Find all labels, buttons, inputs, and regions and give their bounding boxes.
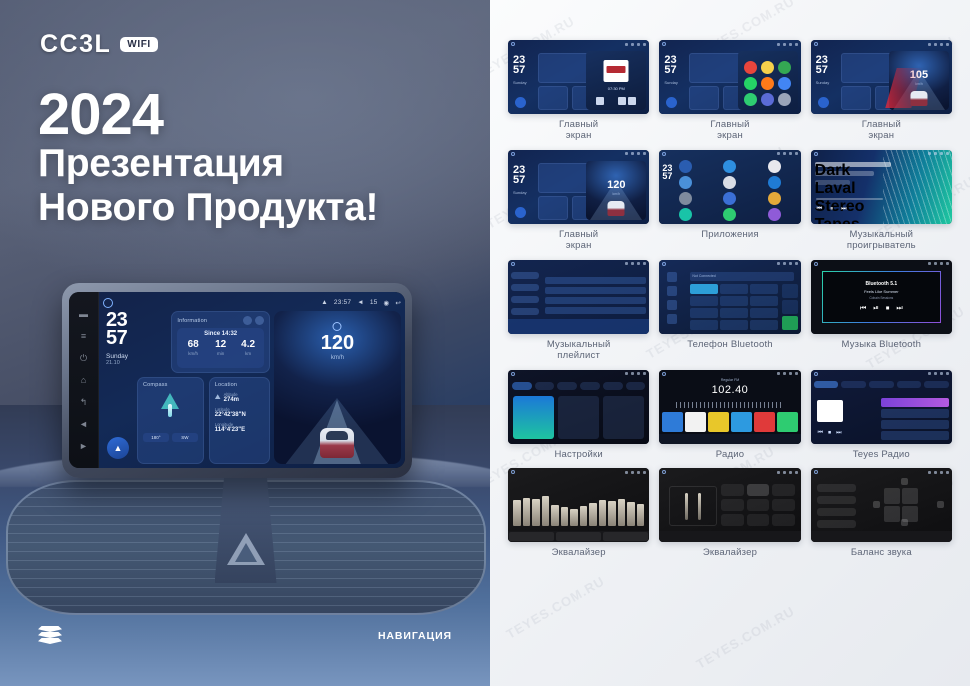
gear-icon[interactable]: ◉	[383, 299, 389, 307]
thumbnail-music-player[interactable]: Dark Laval Stereo Tapes ⏮⏸⏭	[811, 150, 952, 224]
screenshot-gallery: TEYES.COM.RU TEYES.COM.RU TEYES.COM.RU T…	[490, 0, 970, 686]
product-logo: CC3L WIFI	[40, 32, 158, 57]
logo-wifi-badge: WIFI	[120, 37, 158, 52]
stop-icon: ⏹	[886, 305, 890, 313]
thumbnail-apps[interactable]: 2357	[659, 150, 800, 224]
gallery-item[interactable]: Not Connected Телефон Bluetooth	[659, 260, 800, 362]
hero-headline-line1: Презентация	[38, 142, 458, 186]
gallery-item[interactable]: 2357 Sunday Главный экран	[659, 40, 800, 142]
gallery-item[interactable]: ⏮⏹⏭ Teyes Радио	[811, 370, 952, 461]
status-time: 23:57	[334, 299, 351, 306]
gallery-item[interactable]: 2357 Sunday 105 km/h	[811, 40, 952, 142]
power-key-icon[interactable]: ⏻	[78, 353, 89, 364]
location-card[interactable]: Location ⛰ Altitude 274m	[209, 377, 270, 464]
thumbnail-home-music[interactable]: 2357 Sunday 07:30 PM	[508, 40, 649, 114]
longitude-row: Longitude 114°4'23"E	[215, 422, 264, 433]
thumbnail-bluetooth-phone[interactable]: Not Connected	[659, 260, 800, 334]
compass-needle	[168, 404, 172, 417]
navigation-arrow-icon[interactable]: ▲	[107, 437, 129, 459]
watermark: TEYES.COM.RU	[504, 573, 608, 641]
trip-stat-speed: 68 km/h	[179, 340, 206, 356]
volume-down-key-icon[interactable]: ◄	[78, 419, 89, 430]
thumbnail-teyes-radio[interactable]: ⏮⏹⏭	[811, 370, 952, 444]
navigation-arrow-icon	[515, 97, 526, 108]
app-shortcuts-widget	[738, 51, 798, 110]
gallery-item[interactable]: 2357 Приложения	[659, 150, 800, 252]
trip-stat-time: 12 min	[207, 340, 234, 356]
drive-speed-unit: km/h	[274, 355, 401, 361]
speedometer-icon	[333, 322, 342, 331]
gallery-item-caption: Главный экран	[862, 120, 901, 142]
hero-headline: Презентация Нового Продукта!	[38, 142, 458, 231]
balance-up-arrow	[901, 478, 908, 485]
altitude-row: ⛰ Altitude 274m	[215, 392, 264, 403]
thumb-clock-m: 57	[513, 64, 525, 76]
hero-headline-line2: Нового Продукта!	[38, 186, 458, 230]
play-pause-icon: ⏯	[873, 305, 879, 313]
expand-icon[interactable]	[255, 316, 264, 325]
gallery-item[interactable]: Эквалайзер	[508, 468, 649, 559]
back-icon[interactable]: ↩	[395, 299, 401, 307]
drive-speed-value: 120	[274, 333, 401, 353]
side-key-rail[interactable]: ▬ ≡ ⏻ ⌂ ↰ ◄ ►	[69, 292, 99, 468]
layers-icon	[38, 626, 62, 644]
drive-panel[interactable]: 120 km/h	[274, 311, 401, 464]
clock-widget: 23 57 Sunday 21.10	[103, 311, 166, 373]
home-icon[interactable]	[103, 298, 113, 308]
information-card[interactable]: Information Since 14:32	[171, 311, 269, 373]
gallery-item-caption: Настройки	[554, 450, 602, 461]
gallery-row: 2357 Sunday 07:30 PM Главный экран	[508, 40, 952, 142]
compass-direction: SW	[172, 433, 198, 442]
gallery-grid: 2357 Sunday 07:30 PM Главный экран	[508, 40, 952, 559]
stop-icon: ⏹	[828, 430, 831, 437]
mountain-icon: ⛰	[215, 394, 221, 402]
pause-icon: ⏸	[830, 206, 833, 213]
mute-key-icon[interactable]: ▬	[78, 309, 89, 320]
navigation-arrow-icon	[818, 97, 829, 108]
gallery-item[interactable]: Настройки	[508, 370, 649, 461]
thumb-radio-band: Regular FM	[659, 378, 800, 382]
navigation-arrow-icon	[515, 207, 526, 218]
thumbnail-radio[interactable]: Regular FM 102.40	[659, 370, 800, 444]
volume-up-key-icon[interactable]: ►	[78, 441, 89, 452]
wifi-icon: ▲	[321, 299, 328, 306]
gallery-item[interactable]: Dark Laval Stereo Tapes ⏮⏸⏭ Музыкальный …	[811, 150, 952, 252]
thumbnail-home-drive[interactable]: 2357 Sunday 120 km/h	[508, 150, 649, 224]
thumbnail-home-apps[interactable]: 2357 Sunday	[659, 40, 800, 114]
thumb-phone-status: Not Connected	[690, 272, 793, 281]
gallery-row: Эквалайзер Эквалайзер	[508, 468, 952, 559]
gallery-item-caption: Эквалайзер	[552, 548, 606, 559]
screen-left-column: 23 57 Sunday 21.10 Information	[103, 311, 270, 464]
thumbnail-bluetooth-music[interactable]: Bluetooth 5.1 Feels Like Summer Cobain S…	[811, 260, 952, 334]
thumb-track-time: 07:30 PM	[586, 86, 646, 91]
footer-label: НАВИГАЦИЯ	[378, 630, 452, 642]
hero-panel: CC3L WIFI 2024 Презентация Нового Продук…	[0, 0, 490, 686]
gallery-item[interactable]: 2357 Sunday 07:30 PM Главный экран	[508, 40, 649, 142]
gallery-item-caption: Приложения	[701, 230, 759, 241]
balance-right-arrow	[937, 501, 944, 508]
gallery-row: Музыкальный плейлист Not Connected	[508, 260, 952, 362]
gallery-item-caption: Главный экран	[710, 120, 749, 142]
thumb-radio-frequency: 102.40	[659, 384, 800, 396]
next-icon: ⏭	[836, 430, 841, 437]
compass-heading: 180°	[143, 433, 169, 442]
thumb-bt-track: Feels Like Summer	[864, 289, 898, 294]
trip-stat-distance: 4.2 km	[234, 340, 261, 356]
hazard-button-housing	[215, 473, 277, 583]
gallery-row: 2357 Sunday 120 km/h Главн	[508, 150, 952, 252]
screen-status-bar: ▲ 23:57 ◄ 15 ◉ ↩	[103, 296, 401, 309]
latitude-row: Latitude 22°42'38"N	[215, 407, 264, 418]
altitude-value: 274m	[224, 397, 239, 403]
head-unit-screen[interactable]: ▲ 23:57 ◄ 15 ◉ ↩ 23 57	[99, 292, 405, 468]
gallery-item-caption: Teyes Радио	[853, 450, 910, 461]
prev-icon: ⏮	[860, 305, 866, 313]
thumbnail-home-drive-red[interactable]: 2357 Sunday 105 km/h	[811, 40, 952, 114]
thumb-bt-title: Bluetooth 5.1	[865, 281, 897, 287]
gallery-item[interactable]: Музыкальный плейлист	[508, 260, 649, 362]
clock-day: Sunday	[106, 353, 166, 360]
thumb-speed-value: 120	[586, 179, 646, 191]
refresh-icon[interactable]	[243, 316, 252, 325]
screen-content: 23 57 Sunday 21.10 Information	[103, 309, 401, 464]
trip-since-label: Since 14:32	[179, 331, 261, 337]
gallery-item[interactable]: Regular FM 102.40 Радио	[659, 370, 800, 461]
gallery-item-caption: Музыкальный плейлист	[547, 340, 611, 362]
prev-icon: ⏮	[818, 430, 823, 437]
navigation-arrow-icon	[666, 97, 677, 108]
gallery-item-caption: Музыка Bluetooth	[842, 340, 922, 351]
mode-key-icon[interactable]: ≡	[78, 331, 89, 342]
clock-date: 21.10	[106, 360, 166, 366]
back-key-icon[interactable]: ↰	[78, 397, 89, 408]
thumbnail-sound-balance[interactable]	[811, 468, 952, 542]
gallery-item[interactable]: 2357 Sunday 120 km/h Главн	[508, 150, 649, 252]
thumbnail-playlist[interactable]	[508, 260, 649, 334]
presentation-slide: CC3L WIFI 2024 Презентация Нового Продук…	[0, 0, 970, 686]
thumb-speed-unit: km/h	[586, 192, 646, 196]
gallery-item[interactable]: Bluetooth 5.1 Feels Like Summer Cobain S…	[811, 260, 952, 362]
gallery-item[interactable]: Баланс звука	[811, 468, 952, 559]
home-key-icon[interactable]: ⌂	[78, 375, 89, 386]
location-card-title: Location	[215, 382, 264, 388]
compass-card[interactable]: Compass 180° SW	[137, 377, 204, 464]
longitude-value: 114°4'23"E	[215, 427, 264, 433]
gallery-item-caption: Главный экран	[559, 230, 598, 252]
next-icon: ⏭	[896, 305, 902, 313]
logo-model-text: CC3L	[40, 32, 111, 57]
head-unit-bezel: ▬ ≡ ⏻ ⌂ ↰ ◄ ► ▲ 23:57 ◄ 15	[69, 292, 405, 468]
hero-year: 2024	[38, 86, 163, 144]
hazard-triangle-inner	[235, 543, 257, 562]
volume-level: 15	[370, 299, 378, 306]
gallery-item-caption: Телефон Bluetooth	[687, 340, 773, 351]
information-card-title: Information	[177, 318, 207, 324]
gallery-row: Настройки Regular FM 102.40	[508, 370, 952, 461]
balance-down-arrow	[901, 519, 908, 526]
thumb-clock-day: Sunday	[513, 80, 527, 85]
thumbnail-settings[interactable]	[508, 370, 649, 444]
car-window	[326, 431, 348, 440]
gallery-item-caption: Баланс звука	[851, 548, 912, 559]
head-unit-device: ▬ ≡ ⏻ ⌂ ↰ ◄ ► ▲ 23:57 ◄ 15	[62, 283, 412, 478]
compass-card-title: Compass	[143, 382, 198, 388]
gallery-item-caption: Музыкальный проигрыватель	[847, 230, 916, 252]
thumb-bt-artist: Cobain Sessions	[869, 296, 893, 300]
music-widget: 07:30 PM	[586, 51, 646, 110]
prev-icon: ⏮	[817, 206, 822, 213]
volume-icon: ◄	[357, 299, 364, 306]
compass-dial	[150, 390, 190, 430]
thumb-player-track: Dark Laval Stereo Tapes	[815, 162, 891, 167]
gallery-item-caption: Главный экран	[559, 120, 598, 142]
thumbnail-equalizer-pads[interactable]	[659, 468, 800, 542]
watermark: TEYES.COM.RU	[694, 603, 798, 671]
gallery-item[interactable]: Эквалайзер	[659, 468, 800, 559]
gallery-item-caption: Радио	[716, 450, 744, 461]
gallery-item-caption: Эквалайзер	[703, 548, 757, 559]
thumbnail-equalizer-sliders[interactable]	[508, 468, 649, 542]
drive-widget: 120 km/h	[586, 161, 646, 220]
car-graphic	[320, 428, 354, 458]
latitude-value: 22°42'38"N	[215, 412, 264, 418]
balance-left-arrow	[873, 501, 880, 508]
drive-widget: 105 km/h	[889, 51, 949, 110]
next-icon: ⏭	[841, 206, 846, 213]
clock-minutes: 57	[106, 329, 166, 347]
